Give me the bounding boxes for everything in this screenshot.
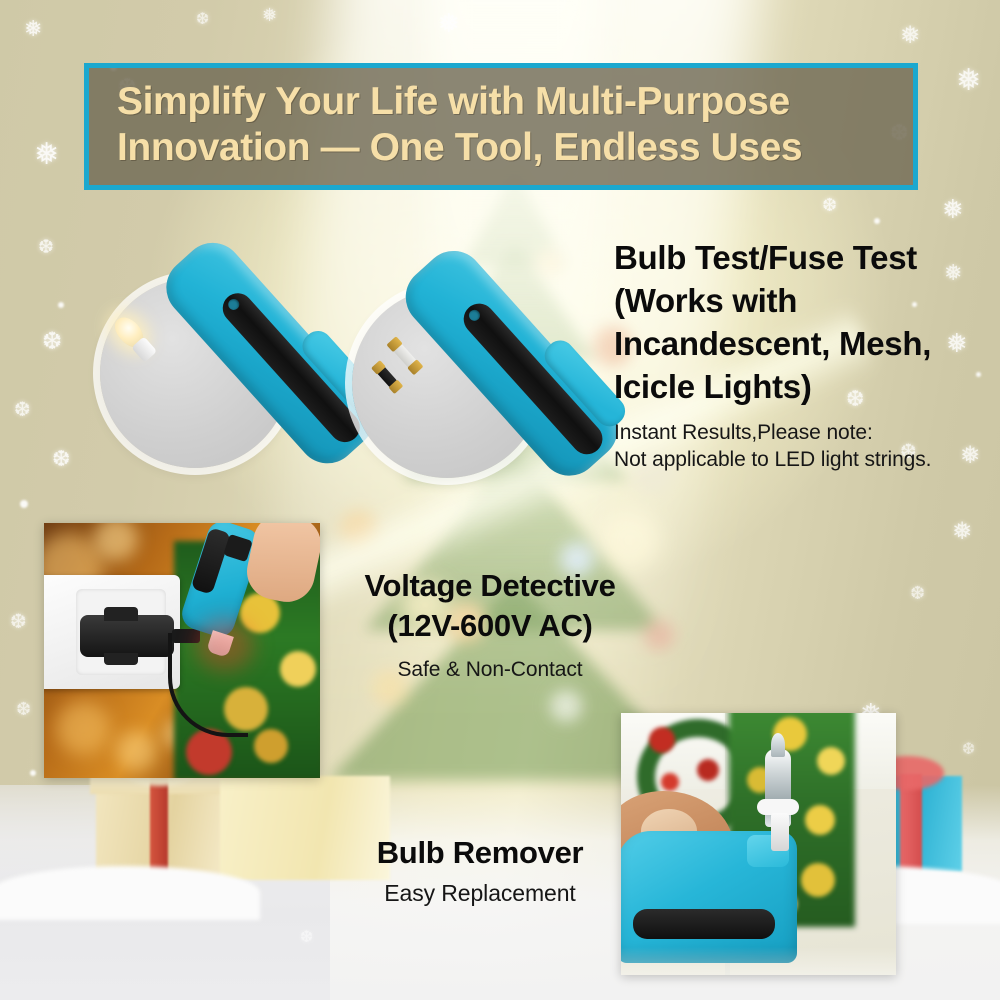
snow-dot (20, 500, 28, 508)
feature-text-bulb-test: Bulb Test/Fuse Test (Works with Incandes… (614, 237, 986, 474)
feature-sub-line: Easy Replacement (330, 879, 630, 909)
voltage-detective-photo (44, 523, 320, 778)
infographic-canvas: ❅ ❅ ❆ ❆ ❆ ❆ ❆ ❅ ❅ ❆ ❆ ❅ ❅ ❆ ❆ ❅ ❅ ❅ ❆ ❆ … (0, 0, 1000, 1000)
snow-dot (30, 770, 36, 776)
feature-heading-line: Bulb Test/Fuse Test (614, 237, 986, 280)
feature-sub-line: Not applicable to LED light strings. (614, 446, 986, 474)
snow-dot (58, 302, 64, 308)
headline-banner: Simplify Your Life with Multi-Purpose In… (84, 63, 918, 190)
headline-line-1: Simplify Your Life with Multi-Purpose (117, 79, 897, 125)
feature-text-bulb-remover: Bulb Remover Easy Replacement (330, 833, 630, 909)
feature-sub-line: Safe & Non-Contact (330, 656, 650, 683)
feature-text-voltage-detective: Voltage Detective (12V-600V AC) Safe & N… (330, 566, 650, 683)
feature-heading-line: (Works with (614, 280, 986, 323)
snow-mound-left (0, 866, 260, 920)
feature-heading-line: (12V-600V AC) (330, 606, 650, 646)
feature-sub-line: Instant Results,Please note: (614, 419, 986, 447)
feature-heading-line: Icicle Lights) (614, 366, 986, 409)
headline-line-2: Innovation — One Tool, Endless Uses (117, 125, 897, 171)
bulb-remover-photo (621, 713, 896, 975)
feature-heading-line: Bulb Remover (330, 833, 630, 873)
feature-heading-line: Voltage Detective (330, 566, 650, 606)
snow-dot (874, 218, 880, 224)
feature-heading-line: Incandescent, Mesh, (614, 323, 986, 366)
